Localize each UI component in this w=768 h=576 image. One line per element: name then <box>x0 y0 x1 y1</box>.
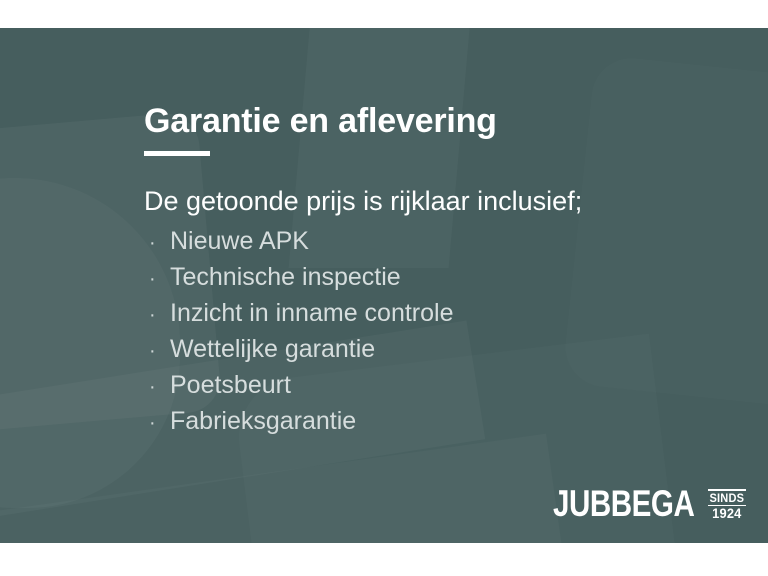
bullet-dot-icon: · <box>144 225 170 261</box>
list-item-label: Poetsbeurt <box>170 367 724 403</box>
logo-since-block: SINDS 1924 <box>708 487 746 521</box>
inclusions-list: · Nieuwe APK · Technische inspectie · In… <box>144 223 724 439</box>
logo-wordmark: JUBBEGA <box>553 487 694 521</box>
slide-content: Garantie en aflevering De getoonde prijs… <box>144 28 724 439</box>
slide-stage: Garantie en aflevering De getoonde prijs… <box>0 28 768 543</box>
list-item-label: Wettelijke garantie <box>170 331 724 367</box>
list-item: · Wettelijke garantie <box>144 331 724 367</box>
bullet-dot-icon: · <box>144 297 170 333</box>
list-item: · Fabrieksgarantie <box>144 403 724 439</box>
bullet-dot-icon: · <box>144 261 170 297</box>
decorative-diagonal-band-lower <box>0 434 567 543</box>
logo-since-year: 1924 <box>710 506 745 521</box>
intro-line: De getoonde prijs is rijklaar inclusief; <box>144 186 724 217</box>
slide-root: Garantie en aflevering De getoonde prijs… <box>0 0 768 576</box>
title-accent-bar <box>144 151 210 156</box>
slide-title: Garantie en aflevering <box>144 104 724 140</box>
list-item: · Technische inspectie <box>144 259 724 295</box>
list-item-label: Nieuwe APK <box>170 223 724 259</box>
list-item: · Poetsbeurt <box>144 367 724 403</box>
jubbega-logo: JUBBEGA SINDS 1924 <box>553 487 746 521</box>
bullet-dot-icon: · <box>144 405 170 441</box>
bottom-white-band <box>0 543 768 576</box>
list-item: · Inzicht in inname controle <box>144 295 724 331</box>
list-item-label: Technische inspectie <box>170 259 724 295</box>
list-item: · Nieuwe APK <box>144 223 724 259</box>
top-white-band <box>0 0 768 28</box>
list-item-label: Inzicht in inname controle <box>170 295 724 331</box>
bullet-dot-icon: · <box>144 369 170 405</box>
logo-since-label: SINDS <box>710 491 745 505</box>
bullet-dot-icon: · <box>144 333 170 369</box>
list-item-label: Fabrieksgarantie <box>170 403 724 439</box>
